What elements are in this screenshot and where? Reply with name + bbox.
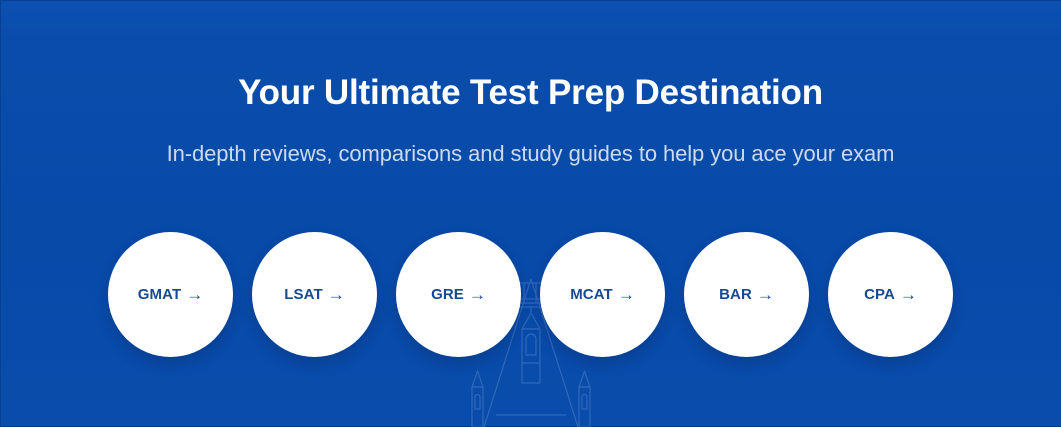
exam-pill-content: CPA →: [864, 286, 917, 303]
exam-pill-cpa[interactable]: CPA →: [828, 232, 953, 357]
exam-pill-content: BAR →: [719, 286, 774, 303]
arrow-right-icon: →: [328, 286, 345, 303]
hero-banner: Your Ultimate Test Prep Destination In-d…: [0, 0, 1061, 427]
arrow-right-icon: →: [900, 286, 917, 303]
exam-pill-gre[interactable]: GRE →: [396, 232, 521, 357]
exam-pill-content: GMAT →: [138, 286, 203, 303]
page-title: Your Ultimate Test Prep Destination: [0, 74, 1061, 113]
exam-pill-content: LSAT →: [284, 286, 344, 303]
exam-pill-mcat[interactable]: MCAT →: [540, 232, 665, 357]
exam-pill-gmat[interactable]: GMAT →: [108, 232, 233, 357]
arrow-right-icon: →: [757, 286, 774, 303]
exam-label: BAR: [719, 286, 752, 303]
arrow-right-icon: →: [469, 286, 486, 303]
exam-pill-bar[interactable]: BAR →: [684, 232, 809, 357]
exam-label: LSAT: [284, 286, 322, 303]
arrow-right-icon: →: [618, 286, 635, 303]
exam-label: GMAT: [138, 286, 181, 303]
exam-label: MCAT: [570, 286, 613, 303]
exam-shortcut-list: GMAT → LSAT → GRE → MCAT →: [0, 232, 1061, 357]
exam-label: CPA: [864, 286, 895, 303]
hero-content: Your Ultimate Test Prep Destination In-d…: [0, 0, 1061, 427]
page-subtitle: In-depth reviews, comparisons and study …: [0, 140, 1061, 168]
exam-pill-content: MCAT →: [570, 286, 635, 303]
exam-pill-content: GRE →: [431, 286, 486, 303]
exam-pill-lsat[interactable]: LSAT →: [252, 232, 377, 357]
arrow-right-icon: →: [186, 286, 203, 303]
exam-label: GRE: [431, 286, 464, 303]
